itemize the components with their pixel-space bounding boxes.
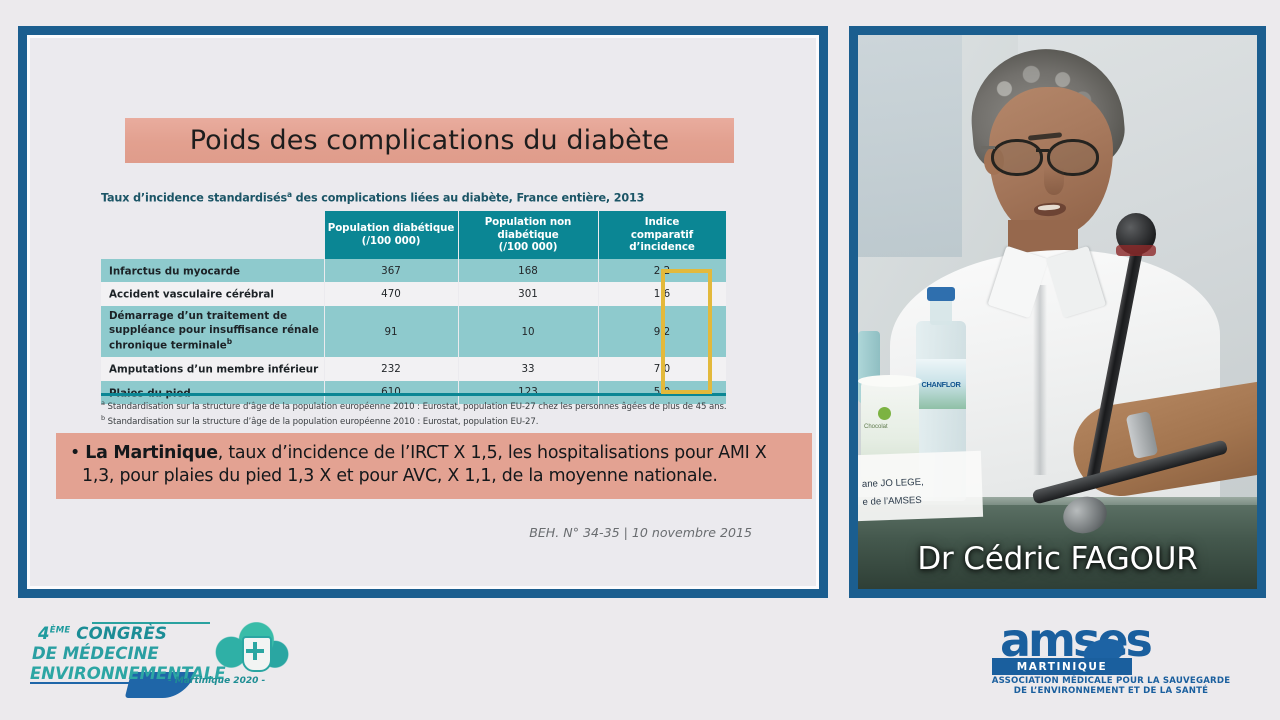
congress-ordinal: 4 (38, 624, 50, 643)
congress-logo-rule-bottom (30, 682, 156, 684)
cell-spacer (598, 357, 621, 381)
header-diabetic-line1: Population diabétique (328, 222, 454, 234)
microphone-ring (1116, 245, 1156, 256)
footnote-b-text: Standardisation sur la structure d’âge d… (105, 417, 538, 427)
table-header-spacer (598, 211, 621, 259)
amses-logo: amses MARTINIQUE ASSOCIATION MÉDICALE PO… (966, 618, 1256, 694)
cell-diabetic: 470 (324, 282, 458, 306)
paper-cup-text: Chocolat (864, 423, 916, 432)
row-label: Accident vasculaire cérébral (101, 282, 324, 306)
table-footnotes: a Standardisation sur la structure d’âge… (101, 399, 756, 429)
cell-comparative-index: 9.2 (621, 306, 703, 357)
glasses-temple (981, 146, 995, 149)
bottle-brand-text: CHANFLOR (921, 380, 960, 389)
shield-icon (242, 636, 272, 672)
cell-comparative-index: 7,0 (621, 357, 703, 381)
placard-line2: e de l’AMSES (862, 495, 922, 508)
table-caption: Taux d’incidence standardisésa des compl… (101, 190, 761, 205)
congress-word: CONGRÈS (70, 624, 167, 643)
water-bottle-label: CHANFLOR (916, 359, 966, 409)
cell-spacer (598, 282, 621, 306)
bullet-callout-text: • La Martinique, taux d’incidence de l’I… (70, 442, 800, 488)
congress-logo-subtitle: - Martinique 2020 - (168, 676, 265, 686)
video-panel[interactable]: CHANFLOR Chocolat ane JO LEGE, e de l’AM… (849, 26, 1266, 598)
amses-subtitle-line1: ASSOCIATION MÉDICALE POUR LA SAUVEGARDE (966, 676, 1256, 686)
header-diabetic-line2: (/100 000) (362, 235, 421, 247)
cell-diabetic: 232 (324, 357, 458, 381)
source-citation: BEH. N° 34-35 | 10 novembre 2015 (30, 525, 752, 540)
table-row: Démarrage d’un traitement de suppléance … (101, 306, 726, 357)
cell-comparative-index: 2,2 (621, 259, 703, 283)
cell-comparative-index: 1,6 (621, 282, 703, 306)
bullet-callout-box: • La Martinique, taux d’incidence de l’I… (56, 433, 812, 499)
speaker-name-caption: Dr Cédric FAGOUR (858, 541, 1257, 577)
table-header-comparative-index: Indice comparatif d’incidence (621, 211, 703, 259)
table-row: Amputations d’un membre inférieur 232 33… (101, 357, 726, 381)
cell-spacer-right (703, 357, 726, 381)
name-placard: ane JO LEGE, e de l’AMSES (858, 451, 983, 521)
row-label-text: Amputations d’un membre inférieur (109, 363, 318, 375)
table-row: Accident vasculaire cérébral 470 301 1,6 (101, 282, 726, 306)
cell-diabetic: 91 (324, 306, 458, 357)
cell-non-diabetic: 168 (458, 259, 598, 283)
glasses-left-lens (991, 139, 1043, 176)
table-header-non-diabetic: Population non diabétique (/100 000) (458, 211, 598, 259)
header-index-line2: d’incidence (629, 241, 694, 253)
water-bottle-cap (927, 287, 955, 301)
shirt-placket-shadow (1033, 285, 1047, 475)
cell-spacer (598, 259, 621, 283)
amses-location-banner: MARTINIQUE (992, 658, 1132, 675)
cell-spacer-right (703, 259, 726, 283)
speaker-nose (1044, 167, 1064, 195)
table-header-spacer-right (703, 211, 726, 259)
table-caption-main: Taux d’incidence standardisés (101, 192, 287, 205)
bullet-bold-lead: La Martinique (85, 443, 217, 463)
footnote-a: a Standardisation sur la structure d’âge… (101, 399, 756, 414)
incidence-table: Population diabétique (/100 000) Populat… (101, 211, 727, 404)
amses-banner-text: MARTINIQUE (1017, 661, 1108, 673)
congress-logo-line2: DE MÉDECINE (32, 644, 159, 663)
cell-spacer-right (703, 282, 726, 306)
table-header-diabetic: Population diabétique (/100 000) (324, 211, 458, 259)
table-header-row: Population diabétique (/100 000) Populat… (101, 211, 726, 259)
amses-subtitle-line2: DE L’ENVIRONNEMENT ET DE LA SANTÉ (966, 686, 1256, 696)
header-index-line1: Indice comparatif (631, 216, 693, 241)
row-label: Infarctus du myocarde (101, 259, 324, 283)
header-non-diabetic-line2: (/100 000) (499, 241, 558, 253)
row-label-text: Infarctus du myocarde (109, 265, 240, 277)
speaker-glasses (991, 139, 1115, 170)
placard-line1: ane JO LEGE, (862, 477, 924, 490)
cell-non-diabetic: 10 (458, 306, 598, 357)
header-non-diabetic-line1: Population non diabétique (485, 216, 572, 241)
row-label: Amputations d’un membre inférieur (101, 357, 324, 381)
cell-spacer-right (703, 306, 726, 357)
cell-spacer (598, 306, 621, 357)
table-header-row-label (101, 211, 324, 259)
paper-cup-badge (878, 407, 891, 420)
footnote-b: b Standardisation sur la structure d’âge… (101, 414, 756, 429)
cell-diabetic: 367 (324, 259, 458, 283)
row-label-text: Accident vasculaire cérébral (109, 289, 274, 301)
paper-cup-rim (858, 375, 922, 387)
congress-ordinal-sup: ÈME (50, 626, 71, 636)
medical-cross-icon-horizontal (246, 649, 264, 653)
footnote-a-text: Standardisation sur la structure d’âge d… (105, 402, 727, 412)
row-label-text: Démarrage d’un traitement de suppléance … (109, 310, 319, 351)
page-title: Poids des complications du diabète (190, 125, 669, 156)
cell-non-diabetic: 33 (458, 357, 598, 381)
row-label: Démarrage d’un traitement de suppléance … (101, 306, 324, 357)
table-row: Infarctus du myocarde 367 168 2,2 (101, 259, 726, 283)
slide-content-area: Poids des complications du diabète Taux … (27, 35, 819, 589)
table-caption-rest: des complications liées au diabète, Fran… (292, 192, 644, 205)
row-label-sup: b (227, 337, 232, 346)
slide-panel[interactable]: Poids des complications du diabète Taux … (18, 26, 828, 598)
glasses-bridge (1036, 149, 1049, 152)
video-scene: CHANFLOR Chocolat ane JO LEGE, e de l’AM… (858, 35, 1257, 589)
congress-logo: 4ÈME CONGRÈS DE MÉDECINE ENVIRONNEMENTAL… (30, 620, 292, 692)
table-bottom-rule (101, 393, 726, 396)
cell-non-diabetic: 301 (458, 282, 598, 306)
background-panel-strip (858, 35, 962, 257)
slide-title-banner: Poids des complications du diabète (125, 118, 734, 163)
congress-logo-line1: 4ÈME CONGRÈS (38, 624, 167, 643)
water-bottle-neck (930, 297, 952, 325)
